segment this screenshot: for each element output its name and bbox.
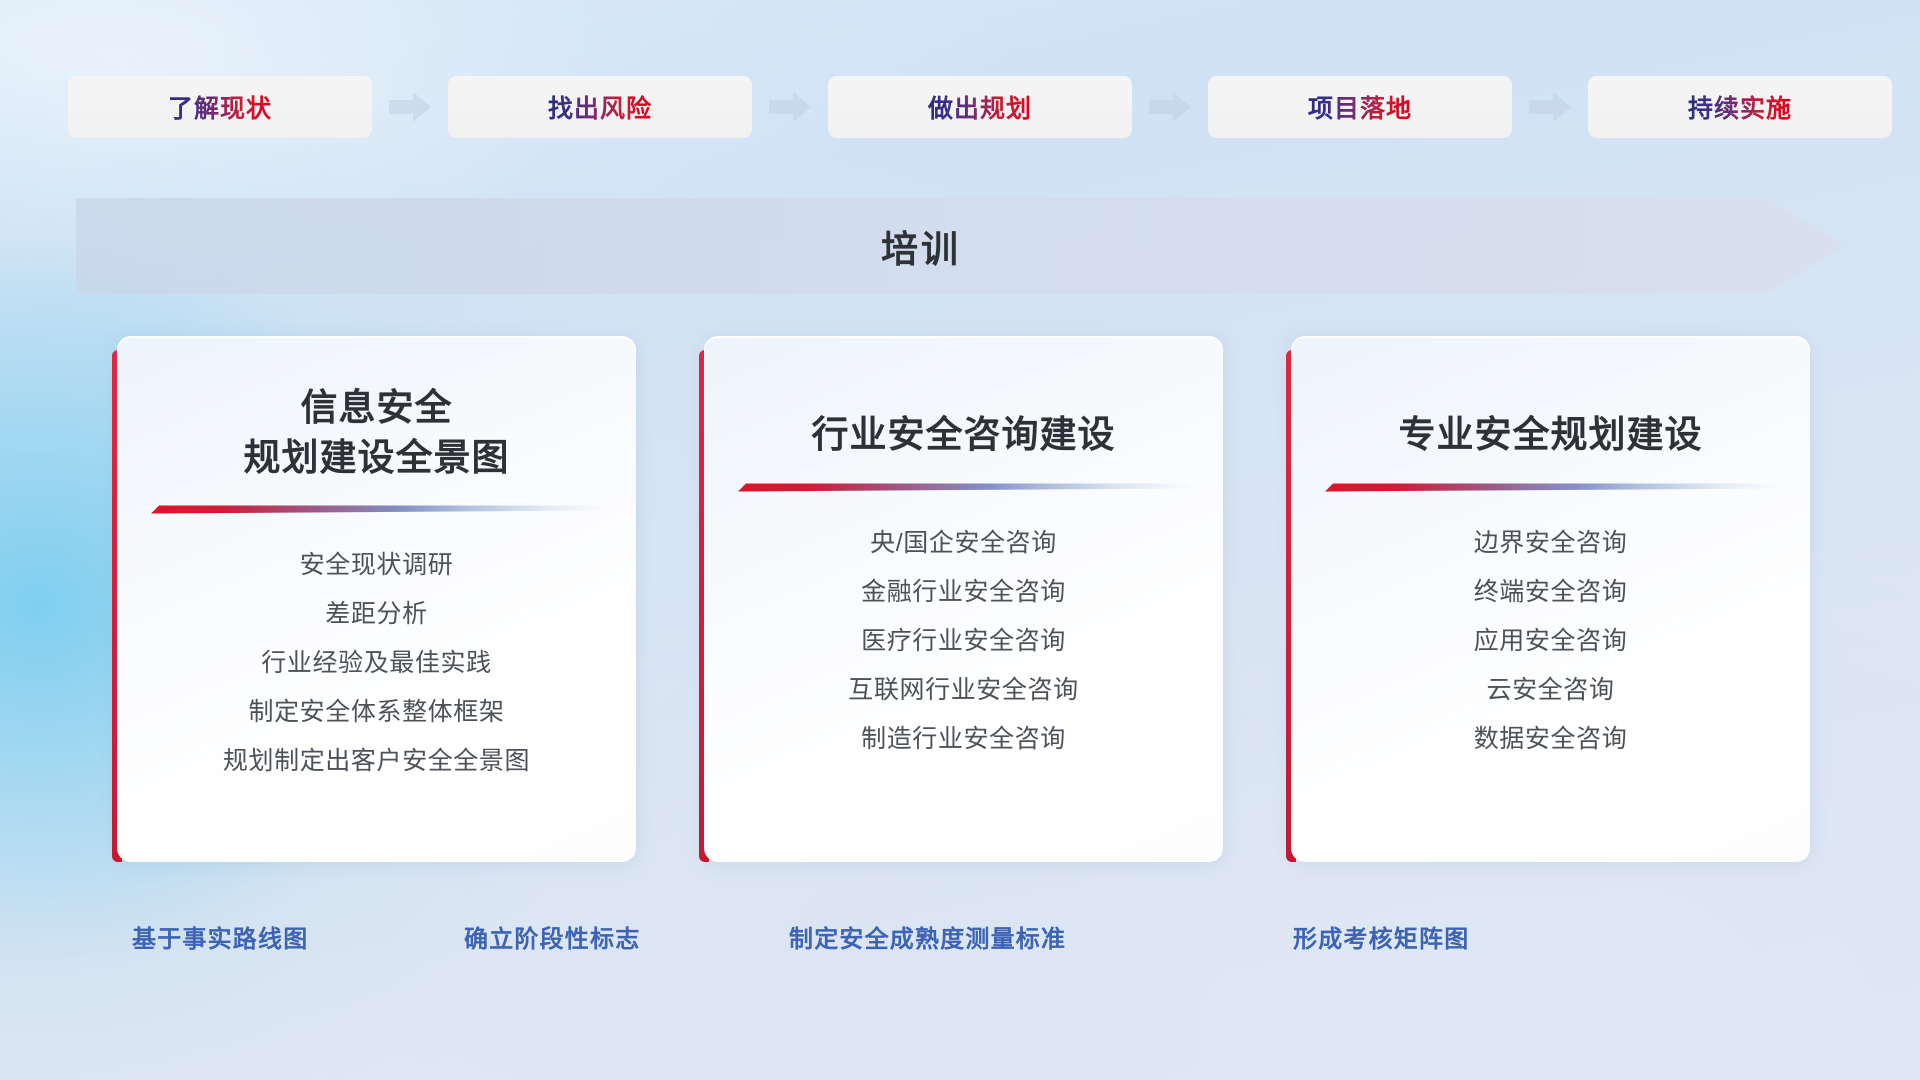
card-divider [151, 504, 603, 515]
service-card-0[interactable]: 信息安全规划建设全景图安全现状调研差距分析行业经验及最佳实践制定安全体系整体框架… [112, 336, 636, 876]
card-title: 行业安全咨询建设 [794, 410, 1134, 460]
card-list-item[interactable]: 终端安全咨询 [1474, 568, 1628, 617]
card-list-item[interactable]: 安全现状调研 [300, 541, 454, 590]
banner-title: 培训 [76, 198, 1766, 294]
arrow-right-icon [1529, 90, 1571, 124]
card-title-line: 行业安全咨询建设 [812, 410, 1116, 460]
card-list-item[interactable]: 行业经验及最佳实践 [261, 639, 491, 688]
process-step-4[interactable]: 持续实施 [1588, 76, 1892, 138]
card-row: 信息安全规划建设全景图安全现状调研差距分析行业经验及最佳实践制定安全体系整体框架… [112, 336, 1812, 876]
card-list-item[interactable]: 制造行业安全咨询 [861, 715, 1066, 764]
card-list: 安全现状调研差距分析行业经验及最佳实践制定安全体系整体框架规划制定出客户安全全景… [118, 541, 635, 786]
card-title-line: 信息安全 [244, 383, 510, 433]
process-step-inner: 找出风险 [448, 76, 752, 138]
card-list-item[interactable]: 差距分析 [325, 590, 427, 639]
card-title: 专业安全规划建设 [1381, 410, 1721, 460]
arrow-right-icon [769, 90, 811, 124]
card-list: 央/国企安全咨询金融行业安全咨询医疗行业安全咨询互联网行业安全咨询制造行业安全咨… [705, 519, 1222, 764]
card-body: 信息安全规划建设全景图安全现状调研差距分析行业经验及最佳实践制定安全体系整体框架… [117, 336, 636, 862]
process-step-label: 了解现状 [168, 89, 272, 125]
card-divider [738, 482, 1190, 493]
card-list-item[interactable]: 边界安全咨询 [1474, 519, 1628, 568]
card-title-line: 规划建设全景图 [244, 433, 510, 483]
card-list-item[interactable]: 央/国企安全咨询 [870, 519, 1057, 568]
process-step-label: 找出风险 [548, 89, 652, 125]
card-list-item[interactable]: 数据安全咨询 [1474, 715, 1628, 764]
card-list: 边界安全咨询终端安全咨询应用安全咨询云安全咨询数据安全咨询 [1292, 519, 1809, 764]
card-body: 行业安全咨询建设央/国企安全咨询金融行业安全咨询医疗行业安全咨询互联网行业安全咨… [704, 336, 1223, 862]
service-card-2[interactable]: 专业安全规划建设边界安全咨询终端安全咨询应用安全咨询云安全咨询数据安全咨询 [1286, 336, 1810, 876]
card-list-item[interactable]: 金融行业安全咨询 [861, 568, 1066, 617]
card-body: 专业安全规划建设边界安全咨询终端安全咨询应用安全咨询云安全咨询数据安全咨询 [1291, 336, 1810, 862]
process-step-label: 持续实施 [1688, 89, 1792, 125]
footer-label-2: 制定安全成熟度测量标准 [789, 919, 1066, 954]
process-step-inner: 项目落地 [1208, 76, 1512, 138]
service-card-1[interactable]: 行业安全咨询建设央/国企安全咨询金融行业安全咨询医疗行业安全咨询互联网行业安全咨… [699, 336, 1223, 876]
process-step-label: 做出规划 [928, 89, 1032, 125]
card-list-item[interactable]: 互联网行业安全咨询 [848, 666, 1078, 715]
process-step-inner: 持续实施 [1588, 76, 1892, 138]
card-divider [1325, 482, 1777, 493]
card-list-item[interactable]: 应用安全咨询 [1474, 617, 1628, 666]
card-list-item[interactable]: 医疗行业安全咨询 [861, 617, 1066, 666]
footer-label-0: 基于事实路线图 [132, 919, 308, 954]
process-step-label: 项目落地 [1308, 89, 1412, 125]
process-step-2[interactable]: 做出规划 [828, 76, 1132, 138]
footer-label-1: 确立阶段性标志 [464, 919, 640, 954]
process-step-1[interactable]: 找出风险 [448, 76, 752, 138]
footer-label-3: 形成考核矩阵图 [1293, 919, 1469, 954]
process-step-inner: 做出规划 [828, 76, 1132, 138]
card-list-item[interactable]: 云安全咨询 [1486, 666, 1614, 715]
card-title: 信息安全规划建设全景图 [226, 383, 528, 482]
training-banner: 培训 [76, 198, 1846, 294]
process-step-row: 了解现状找出风险做出规划项目落地持续实施 [68, 76, 1858, 138]
process-step-0[interactable]: 了解现状 [68, 76, 372, 138]
process-step-inner: 了解现状 [68, 76, 372, 138]
slide-canvas: 了解现状找出风险做出规划项目落地持续实施 培训 信息安全规划建设全景图安全现状调… [0, 0, 1920, 1080]
card-list-item[interactable]: 规划制定出客户安全全景图 [223, 737, 530, 786]
process-step-3[interactable]: 项目落地 [1208, 76, 1512, 138]
arrow-right-icon [389, 90, 431, 124]
arrow-right-icon [1149, 90, 1191, 124]
card-list-item[interactable]: 制定安全体系整体框架 [248, 688, 504, 737]
card-title-line: 专业安全规划建设 [1399, 410, 1703, 460]
